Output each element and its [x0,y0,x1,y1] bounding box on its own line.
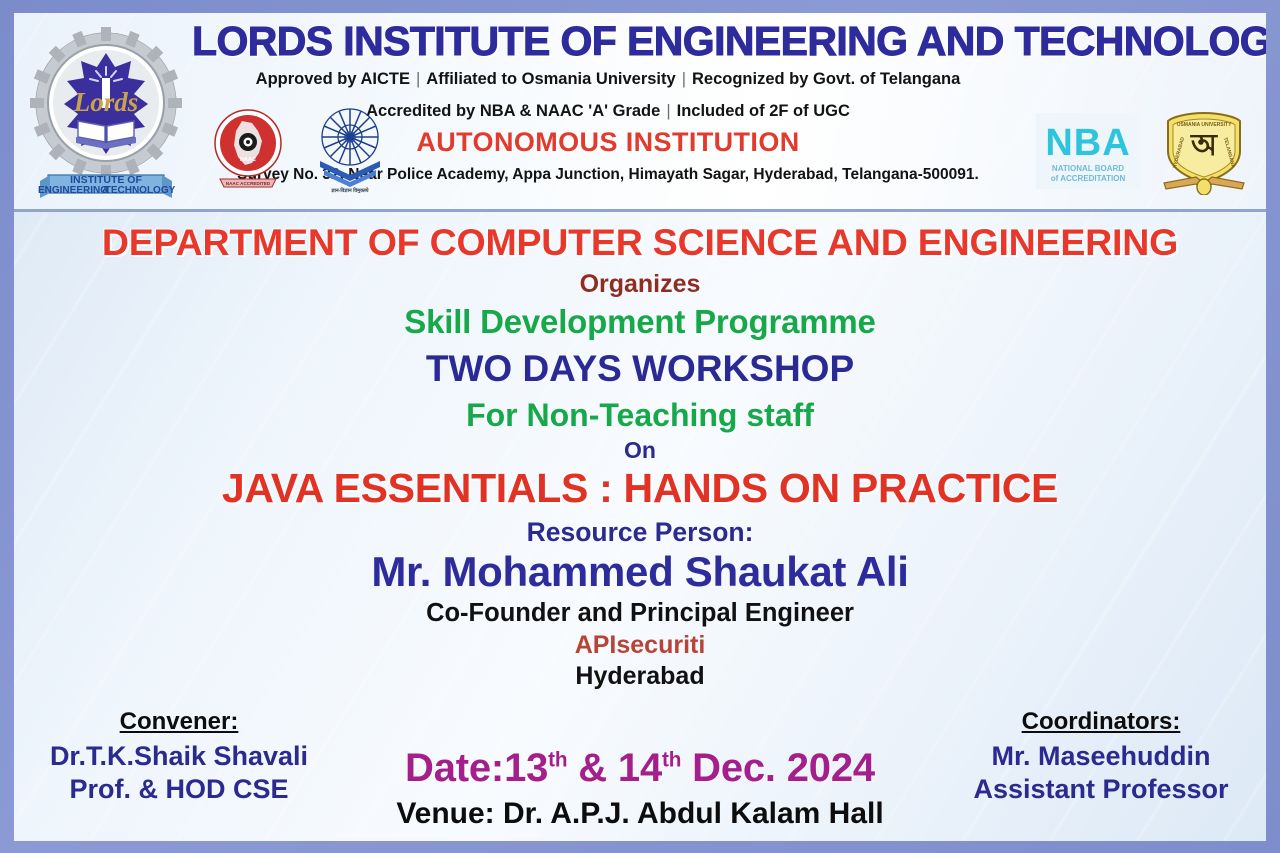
date-day1: 13 [504,746,548,790]
svg-text:NATIONAL BOARD: NATIONAL BOARD [1052,164,1124,173]
programme-title: Skill Development Programme [14,305,1266,338]
resource-person-label: Resource Person: [14,519,1266,546]
nba-logo: NBA NATIONAL BOARD of ACCREDITATION [1036,113,1140,189]
svg-text:NAAC: NAAC [240,157,256,163]
svg-text:NBA: NBA [1045,122,1130,164]
date-day1-suffix: th [548,749,567,772]
separator-2: | [676,70,692,89]
speaker-company: APIsecuriti [14,633,1266,658]
svg-text:অ: অ [1190,129,1218,162]
osmania-university-seal: অ OSMANIA UNIVERSITY HYDERABAD TELANGANA [1156,109,1252,195]
coordinator-role: Assistant Professor [936,774,1266,805]
svg-text:TECHNOLOGY: TECHNOLOGY [105,185,176,196]
workshop-duration: TWO DAYS WORKSHOP [14,350,1266,387]
footer-row: Convener: Dr.T.K.Shaik Shavali Prof. & H… [14,708,1266,835]
workshop-topic: JAVA ESSENTIALS : HANDS ON PRACTICE [14,468,1266,509]
department-title: DEPARTMENT OF COMPUTER SCIENCE AND ENGIN… [14,224,1266,262]
svg-text:Lords: Lords [73,87,139,117]
convener-name: Dr.T.K.Shaik Shavali [14,741,344,772]
recognized-by-text: Recognized by Govt. of Telangana [692,70,960,88]
svg-text:ज्ञान-विज्ञान विमुक्तये: ज्ञान-विज्ञान विमुक्तये [330,187,369,193]
target-audience: For Non-Teaching staff [14,399,1266,431]
naac-logo: NAAC NAAC ACCREDITED [212,105,284,193]
separator-3: | [660,102,676,121]
affiliated-to-text: Affiliated to Osmania University [426,70,675,88]
event-venue: Venue: Dr. A.P.J. Abdul Kalam Hall [344,797,936,831]
organizes-label: Organizes [14,272,1266,297]
date-prefix: Date: [405,746,504,790]
date-venue-block: Date:13th & 14th Dec. 2024 Venue: Dr. A.… [344,746,936,835]
accredited-by-text: Accredited by NBA & NAAC 'A' Grade [366,102,660,120]
date-day2: 14 [618,746,662,790]
poster-body: DEPARTMENT OF COMPUTER SCIENCE AND ENGIN… [14,212,1266,841]
svg-text:of ACCREDITATION: of ACCREDITATION [1051,174,1126,183]
coordinators-title: Coordinators: [936,708,1266,736]
lords-college-logo: Lords INSTITUTE OF ENGINEERING & TECHNOL… [26,25,186,203]
event-date: Date:13th & 14th Dec. 2024 [344,746,936,791]
svg-text:NAAC ACCREDITED: NAAC ACCREDITED [226,181,271,186]
convener-role: Prof. & HOD CSE [14,774,344,805]
poster-inner: Lords INSTITUTE OF ENGINEERING & TECHNOL… [14,13,1266,841]
approved-by-text: Approved by AICTE [256,70,410,88]
svg-text:ENGINEERING: ENGINEERING [38,185,108,196]
speaker-name: Mr. Mohammed Shaukat Ali [14,551,1266,593]
date-month-year: Dec. 2024 [681,746,875,790]
on-label: On [14,439,1266,462]
poster-header: Lords INSTITUTE OF ENGINEERING & TECHNOL… [14,13,1266,212]
coordinators-block: Coordinators: Mr. Maseehuddin Assistant … [936,708,1266,835]
separator-1: | [410,70,426,89]
coordinator-name: Mr. Maseehuddin [936,741,1266,772]
date-amp: & [567,746,618,790]
date-day2-suffix: th [662,749,681,772]
ugc-logo: ज्ञान-विज्ञान विमुक्तये [310,103,390,193]
convener-block: Convener: Dr.T.K.Shaik Shavali Prof. & H… [14,708,344,835]
svg-text:OSMANIA UNIVERSITY: OSMANIA UNIVERSITY [1177,122,1232,128]
ugc-inclusion-text: Included of 2F of UGC [677,102,850,120]
institution-title: LORDS INSTITUTE OF ENGINEERING AND TECHN… [192,21,1024,63]
poster-frame: Lords INSTITUTE OF ENGINEERING & TECHNOL… [0,0,1280,853]
speaker-city: Hyderabad [14,664,1266,689]
convener-title: Convener: [14,708,344,736]
approvals-line: Approved by AICTE|Affiliated to Osmania … [192,70,1024,89]
speaker-designation: Co-Founder and Principal Engineer [14,601,1266,627]
